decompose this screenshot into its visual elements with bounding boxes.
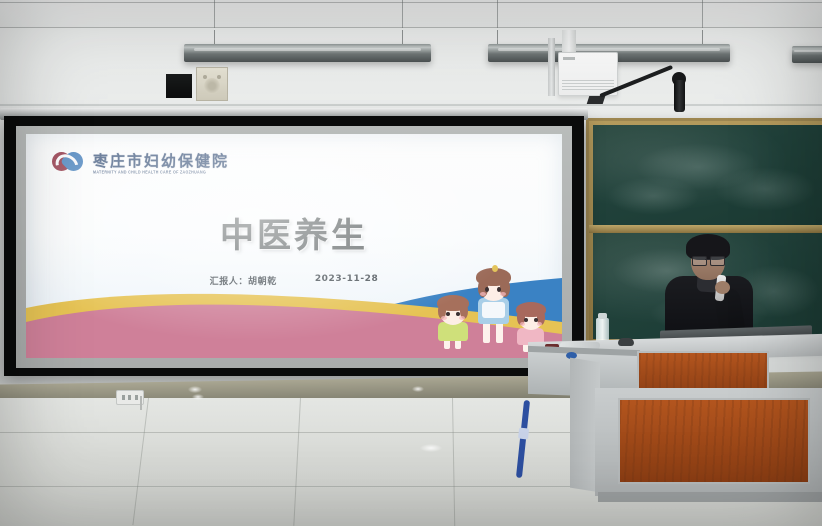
ceiling (0, 0, 822, 30)
ceiling-light-fixture (792, 46, 822, 63)
floor-light-reflection (192, 394, 204, 400)
chalkboard-panel-upper (593, 125, 822, 225)
heart-logo-icon (52, 150, 86, 178)
logo-name-en: MATERNITY AND CHILD HEALTH CARE OF ZAOZH… (93, 171, 229, 175)
speaker-tweeter (217, 75, 221, 79)
floor-light-reflection (420, 444, 442, 452)
computer-mouse (618, 338, 634, 346)
light-cord (497, 30, 498, 44)
light-cord (402, 30, 403, 44)
classroom-photo-scene: 枣庄市妇幼保健院 MATERNITY AND CHILD HEALTH CARE… (0, 0, 822, 526)
figure-cheek (441, 316, 447, 320)
ac-vent (562, 80, 614, 90)
figure-eye (446, 312, 450, 316)
outlet-wire (140, 396, 142, 410)
projector-head (674, 80, 685, 112)
light-cord (702, 30, 703, 44)
glasses-icon (692, 256, 725, 264)
light-cord (214, 30, 215, 44)
wall-trim-line (0, 104, 822, 106)
podium-base (598, 492, 822, 502)
ceiling-hanger (214, 0, 215, 30)
speaker-cone (204, 78, 220, 94)
cartoon-child-left (432, 294, 474, 350)
presentation-slide: 枣庄市妇幼保健院 MATERNITY AND CHILD HEALTH CARE… (26, 134, 562, 358)
ceiling-hanger (497, 0, 498, 30)
cable-tag (518, 428, 529, 440)
figure-eye (485, 287, 489, 292)
floor-light-reflection (188, 386, 202, 393)
presenter-hand (715, 281, 730, 294)
glasses-lens (692, 256, 707, 266)
figure-hair-bun (492, 265, 498, 272)
slide-title: 中医养生 (26, 208, 562, 257)
slide-date: 2023-11-28 (315, 274, 379, 287)
floor-light-reflection (412, 386, 424, 392)
ac-badge (563, 57, 575, 60)
ac-pipe (548, 38, 555, 96)
cartoon-nurse-woman (472, 268, 516, 344)
outlet-slot (128, 395, 131, 400)
figure-cheek (537, 322, 542, 326)
wall-speaker (196, 67, 228, 101)
outlet-slot (122, 395, 125, 400)
black-equipment-box (166, 74, 192, 98)
figure-cheek (500, 292, 506, 296)
chalk-smudge (607, 177, 700, 215)
podium-wood-panel-lower (618, 398, 810, 484)
logo-name-cn: 枣庄市妇幼保健院 (93, 154, 229, 169)
ceiling-seam (0, 2, 822, 3)
projector-mount-base (587, 96, 606, 104)
ceiling-light-fixture (184, 44, 431, 62)
figure-cheek (480, 292, 486, 296)
figure-apron (482, 302, 505, 318)
outlet-slot (135, 395, 138, 400)
bottle-cap (598, 313, 607, 319)
presenter-label: 汇报人：胡朝乾 (210, 274, 277, 287)
glasses-lens (710, 256, 725, 266)
figure-eye (524, 318, 528, 322)
ceiling-hanger (402, 0, 403, 30)
figure-eye (497, 287, 501, 292)
figure-cheek (459, 316, 465, 320)
ceiling-hanger (702, 0, 703, 30)
figure-cheek (520, 322, 525, 326)
hospital-logo: 枣庄市妇幼保健院 MATERNITY AND CHILD HEALTH CARE… (52, 150, 229, 178)
chalk-smudge (714, 167, 816, 211)
logo-text-block: 枣庄市妇幼保健院 MATERNITY AND CHILD HEALTH CARE… (93, 154, 229, 175)
